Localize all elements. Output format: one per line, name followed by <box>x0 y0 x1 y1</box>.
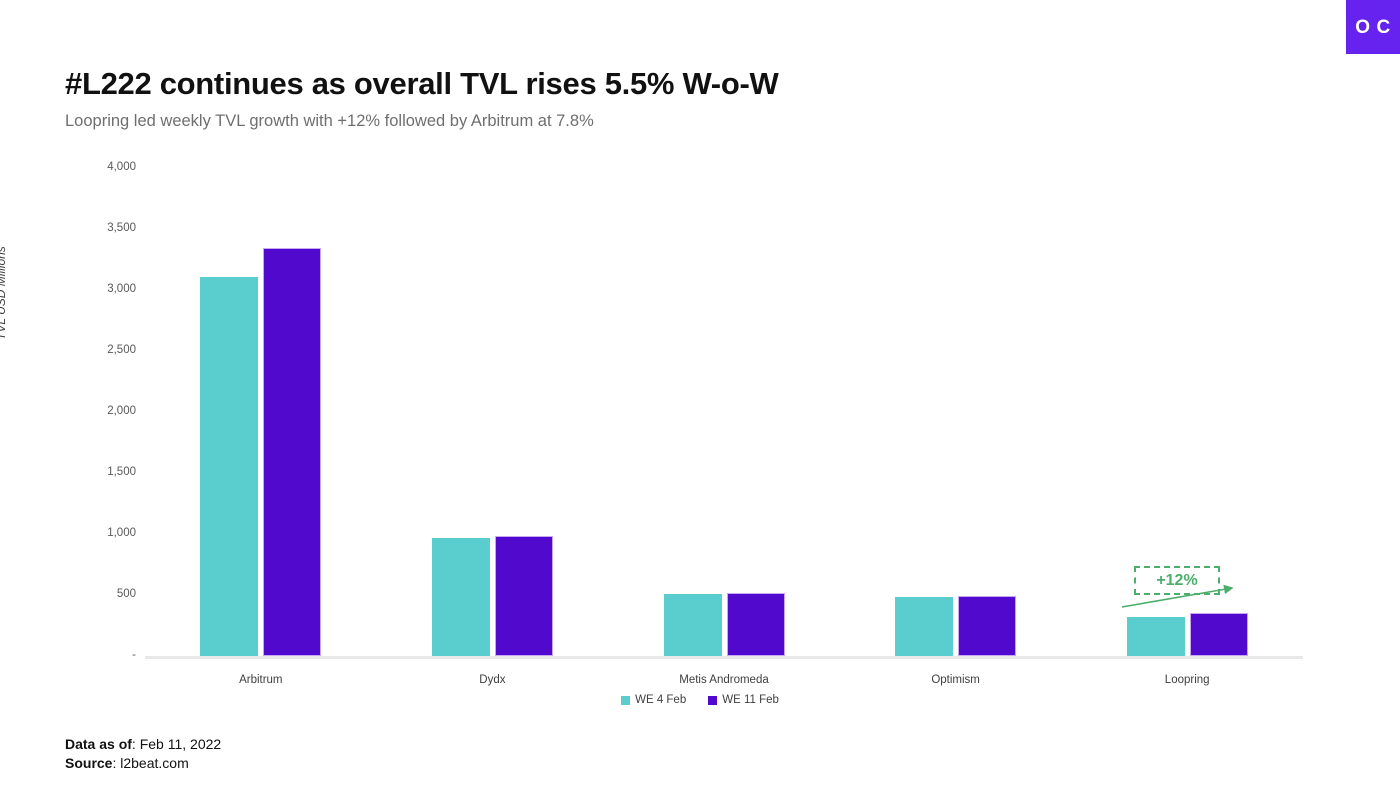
page-title: #L222 continues as overall TVL rises 5.5… <box>65 66 1265 102</box>
y-tick-label: 3,000 <box>76 284 136 296</box>
x-tick-label: Loopring <box>1077 674 1297 686</box>
page-subtitle: Loopring led weekly TVL growth with +12%… <box>65 112 1265 132</box>
bar-arbitrum-series-0[interactable] <box>200 277 258 656</box>
y-tick-label: 1,500 <box>76 467 136 479</box>
bar-loopring-series-0[interactable] <box>1127 617 1185 656</box>
footer-data-as-of: Data as of: Feb 11, 2022 <box>65 735 221 754</box>
x-tick-label: Optimism <box>846 674 1066 686</box>
legend-swatch-icon <box>621 696 630 705</box>
footer: Data as of: Feb 11, 2022 Source: l2beat.… <box>65 735 221 773</box>
bar-dydx-series-1[interactable] <box>495 536 553 656</box>
footer-source-key: Source <box>65 755 112 771</box>
legend-item-1[interactable]: WE 11 Feb <box>708 694 779 706</box>
bar-loopring-series-1[interactable] <box>1190 613 1248 656</box>
bar-metis-andromeda-series-1[interactable] <box>727 593 785 656</box>
bar-arbitrum-series-1[interactable] <box>263 248 321 656</box>
y-tick-label: 500 <box>76 589 136 601</box>
growth-annotation-arrow-icon <box>1120 575 1250 610</box>
x-tick-label: Metis Andromeda <box>614 674 834 686</box>
x-tick-label: Arbitrum <box>151 674 371 686</box>
footer-source-value: : l2beat.com <box>112 755 188 771</box>
y-tick-label: 1,000 <box>76 528 136 540</box>
legend-label: WE 11 Feb <box>722 694 779 706</box>
y-tick-label: 4,000 <box>76 162 136 174</box>
y-axis-title: TVL USD Millions <box>0 246 8 340</box>
footer-data-as-of-key: Data as of <box>65 736 132 752</box>
footer-source: Source: l2beat.com <box>65 754 221 773</box>
y-tick-label: 3,500 <box>76 223 136 235</box>
legend-label: WE 4 Feb <box>635 694 686 706</box>
bar-dydx-series-0[interactable] <box>432 538 490 656</box>
x-tick-label: Dydx <box>382 674 602 686</box>
legend-item-0[interactable]: WE 4 Feb <box>621 694 686 706</box>
bar-optimism-series-0[interactable] <box>895 597 953 656</box>
growth-annotation-box <box>1134 566 1220 595</box>
footer-data-as-of-value: : Feb 11, 2022 <box>132 736 221 752</box>
logo-glyph-o: O <box>1355 18 1370 37</box>
chart-legend: WE 4 FebWE 11 Feb <box>0 694 1400 706</box>
legend-swatch-icon <box>708 696 717 705</box>
y-tick-label: - <box>76 650 136 662</box>
y-tick-label: 2,500 <box>76 345 136 357</box>
y-tick-label: 2,000 <box>76 406 136 418</box>
bar-metis-andromeda-series-0[interactable] <box>664 594 722 656</box>
brand-logo: O C <box>1346 0 1400 54</box>
header: #L222 continues as overall TVL rises 5.5… <box>65 66 1265 131</box>
x-axis-baseline <box>145 656 1303 659</box>
bar-optimism-series-1[interactable] <box>958 596 1016 656</box>
logo-glyph-c: C <box>1377 18 1391 37</box>
growth-annotation-label: +12% <box>1134 566 1220 595</box>
